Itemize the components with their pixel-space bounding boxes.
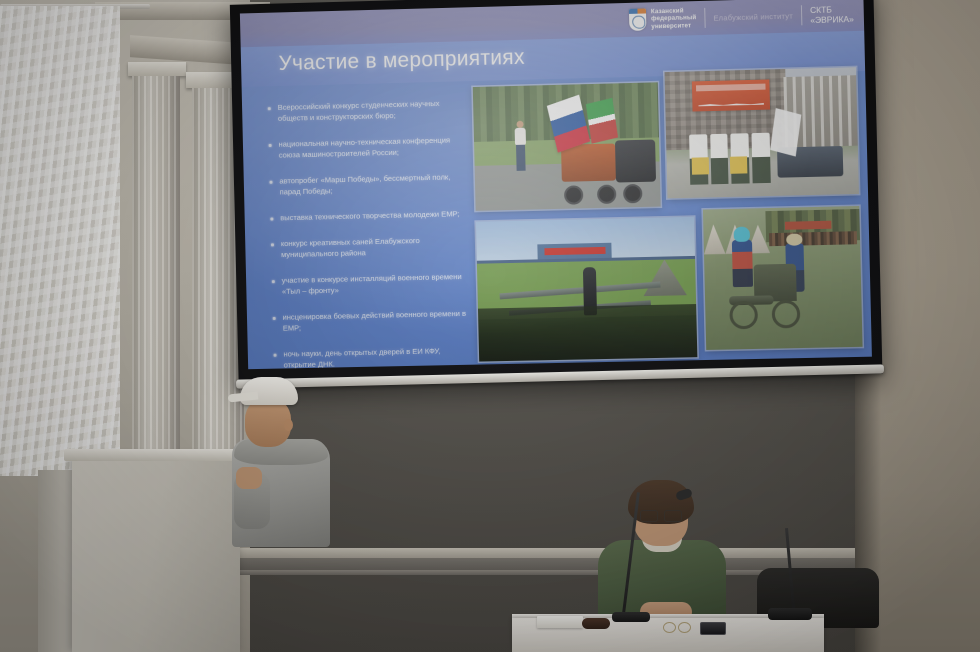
bullet-text: национальная научно-техническая конферен… bbox=[278, 134, 462, 160]
list-item: национальная научно-техническая конферен… bbox=[269, 134, 463, 161]
podium-top-surface bbox=[64, 449, 250, 461]
slide-photo-flags-buggies bbox=[473, 82, 661, 211]
slide-bullet-list: Всероссийский конкурс студенческих научн… bbox=[268, 97, 468, 369]
kfu-logo-text: Казанский федеральный университет bbox=[651, 7, 697, 31]
pilaster-capital-a bbox=[128, 62, 186, 76]
microphone-base-secondary bbox=[768, 608, 812, 620]
photo-3-content bbox=[476, 217, 697, 362]
red-roof bbox=[784, 221, 831, 230]
orange-banner bbox=[691, 80, 770, 112]
photo-1-content bbox=[473, 82, 661, 211]
speaker-at-podium bbox=[232, 377, 330, 547]
smartphone-on-table bbox=[700, 622, 726, 635]
slide-photo-biplane-installation bbox=[476, 217, 697, 362]
kfu-crest-icon bbox=[629, 8, 647, 30]
speaker-white-cap bbox=[240, 377, 298, 405]
upper-wing bbox=[499, 281, 660, 299]
conference-hall-photo: Казанский федеральный университет Елабуж… bbox=[0, 0, 980, 652]
kfu-line-3: университет bbox=[651, 22, 696, 31]
foreground-shadow bbox=[478, 304, 697, 362]
bullet-dot-icon bbox=[272, 280, 275, 283]
bullet-text: автопробег «Марш Победы», бессмертный по… bbox=[279, 171, 463, 197]
header-divider-2 bbox=[801, 5, 802, 25]
photo-4-content bbox=[703, 206, 863, 350]
bullet-text: конкурс креативных саней Елабужского мун… bbox=[281, 234, 465, 260]
kfu-logo: Казанский федеральный университет bbox=[629, 7, 697, 32]
bullet-text: участие в конкурсе инсталляций военного … bbox=[282, 271, 466, 297]
list-item: конкурс креативных саней Елабужского мун… bbox=[271, 234, 465, 260]
bullet-text: Всероссийский конкурс студенческих научн… bbox=[278, 97, 462, 124]
team-member bbox=[751, 133, 770, 184]
moderator-seated bbox=[592, 484, 734, 624]
bullet-dot-icon bbox=[268, 107, 271, 110]
list-item: выставка технического творчества молодеж… bbox=[270, 208, 464, 223]
header-divider-1 bbox=[704, 8, 705, 28]
buggy-vehicle bbox=[561, 143, 616, 182]
presentation-slide: Казанский федеральный университет Елабуж… bbox=[240, 0, 872, 369]
podium-side-panel bbox=[38, 470, 74, 652]
bullet-dot-icon bbox=[274, 354, 277, 357]
eyeglasses-on-table bbox=[663, 622, 691, 631]
photo-2-content bbox=[665, 67, 859, 198]
window-curtain bbox=[0, 6, 120, 476]
bullet-text: выставка технического творчества молодеж… bbox=[280, 208, 459, 223]
notebook-on-table bbox=[537, 616, 583, 628]
gun-wheel bbox=[771, 300, 800, 329]
bullet-dot-icon bbox=[273, 317, 276, 320]
list-item: ночь науки, день открытых дверей в ЕИ КФ… bbox=[273, 345, 467, 369]
slide-photo-maxim-gun bbox=[703, 206, 863, 350]
list-item: автопробег «Марш Победы», бессмертный по… bbox=[269, 171, 463, 198]
bureau-line-2: «ЭВРИКА» bbox=[810, 14, 854, 26]
maxim-machine-gun bbox=[726, 263, 824, 330]
yellow-placard bbox=[691, 157, 709, 175]
dark-object-on-table bbox=[582, 618, 610, 629]
bullet-text: ночь науки, день открытых дверей в ЕИ КФ… bbox=[283, 345, 467, 369]
bullet-text: инсценировка боевых действий военного вр… bbox=[282, 308, 466, 334]
bullet-dot-icon bbox=[271, 243, 274, 246]
institute-label: Елабужский институт bbox=[713, 11, 793, 22]
projection-screen: Казанский федеральный университет Елабуж… bbox=[230, 0, 883, 386]
slide-photo-student-team bbox=[665, 67, 859, 198]
crowd-of-reenactors bbox=[769, 231, 857, 246]
moderator-glasses bbox=[640, 510, 682, 520]
bullet-dot-icon bbox=[270, 217, 273, 220]
speaker-hand bbox=[236, 467, 262, 489]
pilaster-a bbox=[132, 76, 180, 462]
person-standing bbox=[512, 128, 528, 187]
microphone-base bbox=[612, 612, 650, 622]
gun-wheel bbox=[729, 301, 758, 330]
bullet-dot-icon bbox=[269, 181, 272, 184]
list-item: Всероссийский конкурс студенческих научн… bbox=[268, 97, 462, 124]
red-banner bbox=[544, 247, 605, 255]
tatarstan-flag bbox=[586, 98, 618, 144]
quad-bike bbox=[615, 140, 656, 183]
list-item: участие в конкурсе инсталляций военного … bbox=[272, 271, 466, 297]
list-item: инсценировка боевых действий военного вр… bbox=[273, 308, 467, 334]
bullet-dot-icon bbox=[269, 144, 272, 147]
wall-moulding-top bbox=[240, 548, 880, 558]
bureau-label: СКТБ «ЭВРИКА» bbox=[810, 3, 854, 25]
speaker-ear bbox=[284, 419, 293, 431]
podium: 1804 bbox=[72, 456, 240, 652]
team-member bbox=[710, 134, 729, 185]
yellow-placard bbox=[730, 156, 748, 174]
